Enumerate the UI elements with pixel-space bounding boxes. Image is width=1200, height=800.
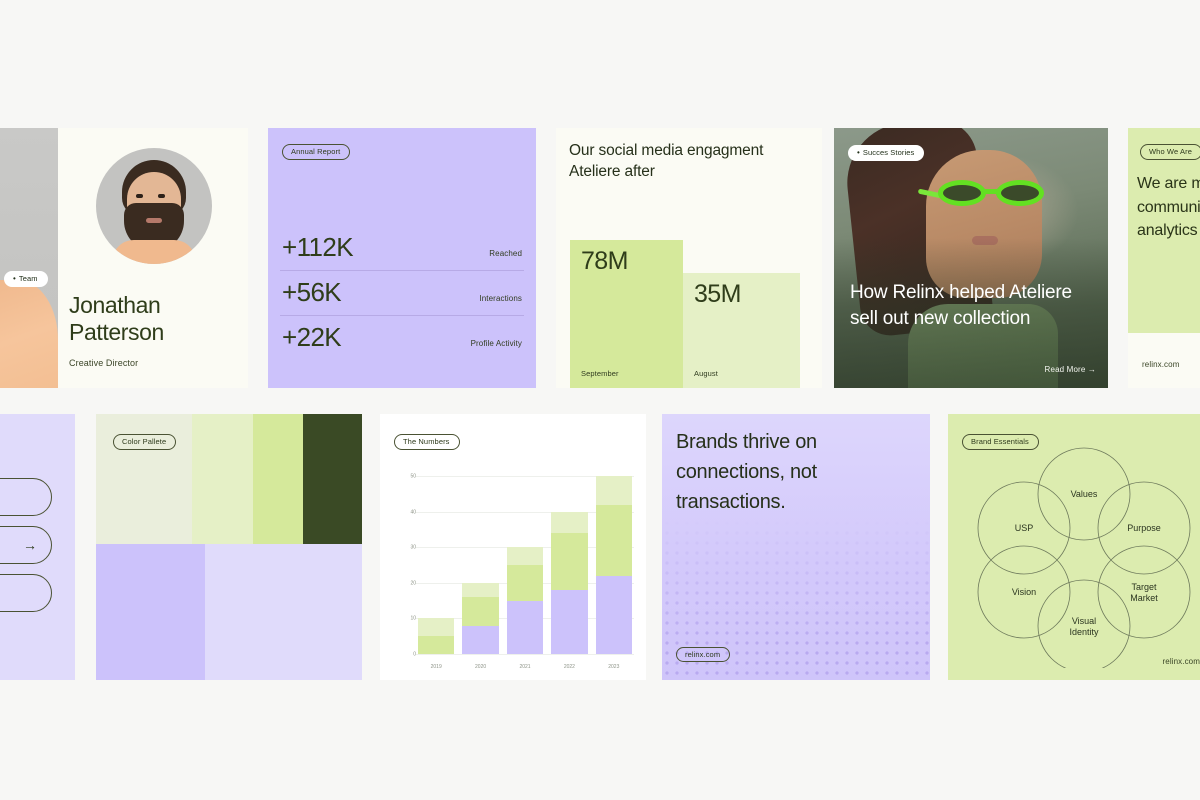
- stat-label: Interactions: [479, 294, 522, 303]
- chart-bar-column: 2022: [551, 476, 587, 654]
- who-we-are-text: We are marketers building communities wi…: [1137, 172, 1200, 243]
- success-stories-badge[interactable]: • Succes Stories: [848, 142, 924, 161]
- chart-bar-segment: [418, 636, 454, 654]
- color-palette-badge[interactable]: Color Pallete: [113, 431, 176, 450]
- bullet-icon: •: [13, 275, 16, 283]
- pill-button-top[interactable]: [0, 478, 52, 516]
- card-the-numbers-chart[interactable]: The Numbers 01020304050 2019202020212022…: [380, 414, 646, 680]
- avatar: [96, 148, 212, 264]
- template-showcase-board: • Team Jonathan Patterson Creative Direc…: [0, 0, 1200, 800]
- venn-label: USP: [1015, 523, 1034, 533]
- engagement-headline: Our social media engagment Ateliere afte…: [569, 140, 809, 183]
- chart-bars: 20192020202120222023: [418, 476, 632, 654]
- pill-button-bottom[interactable]: [0, 574, 52, 612]
- chart-bar-segment: [596, 576, 632, 654]
- bullet-icon: •: [857, 149, 860, 157]
- swatch-green-light: [192, 414, 253, 544]
- chart-y-tick-label: 50: [402, 474, 416, 480]
- swatch-lavender-light: [205, 544, 362, 680]
- team-photo-strip: [0, 128, 58, 388]
- chart-bar-stack: [418, 618, 454, 654]
- venn-circle: [1098, 546, 1190, 638]
- brand-essentials-badge[interactable]: Brand Essentials: [962, 431, 1039, 450]
- stats-list: +112K Reached +56K Interactions +22K Pro…: [280, 226, 524, 360]
- team-badge-label: Team: [19, 275, 38, 283]
- engagement-bar: 78M September: [570, 240, 683, 388]
- quote-url-badge[interactable]: relinx.com: [676, 644, 730, 663]
- chart-bar-segment: [551, 512, 587, 533]
- card-who-we-are[interactable]: Who We Are We are marketers building com…: [1128, 128, 1200, 388]
- chart-bar-segment: [596, 505, 632, 576]
- engagement-bars: 78M September 35M August: [570, 240, 810, 388]
- stat-label: Reached: [489, 249, 522, 258]
- chart-bar-stack: [462, 583, 498, 654]
- chart-bar-segment: [507, 547, 543, 565]
- who-we-are-badge[interactable]: Who We Are: [1140, 141, 1200, 160]
- color-palette-badge-label: Color Pallete: [122, 438, 166, 446]
- chart-y-tick-label: 0: [402, 652, 416, 658]
- engagement-bar-value: 35M: [694, 282, 741, 307]
- annual-report-badge-label: Annual Report: [291, 148, 340, 156]
- person-name: Jonathan Patterson: [69, 292, 244, 346]
- stat-label: Profile Activity: [471, 339, 522, 348]
- chart-y-tick-label: 20: [402, 580, 416, 586]
- card-button-styles[interactable]: →: [0, 414, 75, 680]
- quote-url-label: relinx.com: [685, 651, 720, 659]
- chart-bar-segment: [418, 618, 454, 636]
- person-role: Creative Director: [69, 358, 138, 368]
- chart-bar-segment: [462, 583, 498, 597]
- chart-x-tick-label: 2020: [462, 664, 498, 670]
- avatar-shirt: [112, 240, 196, 264]
- card-team-profile[interactable]: • Team Jonathan Patterson Creative Direc…: [0, 128, 248, 388]
- chart-x-tick-label: 2019: [418, 664, 454, 670]
- chart-y-tick-label: 30: [402, 545, 416, 551]
- chart-gridline: [416, 654, 634, 655]
- avatar-mouth: [146, 218, 162, 223]
- venn-label: Vision: [1012, 587, 1036, 597]
- chart-bar-segment: [462, 597, 498, 625]
- chart-bar-stack: [596, 476, 632, 654]
- chart-bar-segment: [462, 626, 498, 654]
- brand-essentials-url: relinx.com: [1163, 657, 1200, 666]
- quote-text: Brands thrive on connections, not transa…: [676, 427, 906, 517]
- stat-value: +56K: [282, 279, 341, 305]
- chart-bar-column: 2020: [462, 476, 498, 654]
- card-annual-report[interactable]: Annual Report +112K Reached +56K Interac…: [268, 128, 536, 388]
- stat-row: +56K Interactions: [280, 271, 524, 316]
- chart-bar-segment: [507, 565, 543, 601]
- story-title: How Relinx helped Ateliere sell out new …: [850, 280, 1094, 332]
- palette-row-bottom: [96, 544, 362, 680]
- stat-row: +112K Reached: [280, 226, 524, 271]
- avatar-eye-right: [158, 194, 165, 198]
- chart-bar-segment: [551, 590, 587, 654]
- swatch-green: [253, 414, 304, 544]
- chart-y-tick-label: 40: [402, 509, 416, 515]
- chart-bar-column: 2019: [418, 476, 454, 654]
- brand-essentials-venn: ValuesPurposeUSPVisionTargetMarketVisual…: [966, 432, 1200, 668]
- venn-label: Purpose: [1127, 523, 1161, 533]
- chart-bar-column: 2021: [507, 476, 543, 654]
- pill-button-arrow[interactable]: →: [0, 526, 52, 564]
- who-we-are-badge-label: Who We Are: [1149, 148, 1192, 156]
- engagement-bar: 35M August: [683, 273, 800, 388]
- card-brand-essentials[interactable]: ValuesPurposeUSPVisionTargetMarketVisual…: [948, 414, 1200, 680]
- success-stories-badge-label: Succes Stories: [863, 149, 914, 157]
- stat-row: +22K Profile Activity: [280, 316, 524, 360]
- sunglasses-icon: [938, 180, 1052, 206]
- card-color-palette[interactable]: Color Pallete: [96, 414, 362, 680]
- brand-essentials-badge-label: Brand Essentials: [971, 438, 1029, 446]
- swatch-green-dark: [303, 414, 362, 544]
- engagement-bar-value: 78M: [581, 249, 628, 274]
- chart-bar-column: 2023: [596, 476, 632, 654]
- avatar-eye-left: [136, 194, 143, 198]
- engagement-bar-label: August: [694, 369, 718, 378]
- chart-plot-area: 01020304050 20192020202120222023: [402, 476, 634, 654]
- chart-x-tick-label: 2022: [551, 664, 587, 670]
- card-social-engagement[interactable]: Our social media engagment Ateliere afte…: [556, 128, 822, 388]
- card-quote[interactable]: Brands thrive on connections, not transa…: [662, 414, 930, 680]
- chart-x-tick-label: 2021: [507, 664, 543, 670]
- venn-label: VisualIdentity: [1069, 616, 1099, 637]
- who-we-are-url: relinx.com: [1142, 360, 1179, 369]
- chart-bar-segment: [507, 601, 543, 654]
- chart-bar-segment: [551, 533, 587, 590]
- stat-value: +112K: [282, 234, 353, 260]
- team-badge[interactable]: • Team: [4, 268, 48, 287]
- swatch-lavender: [96, 544, 205, 680]
- venn-label: Values: [1071, 489, 1098, 499]
- stat-value: +22K: [282, 324, 341, 350]
- chart-bar-stack: [507, 547, 543, 654]
- chart-bar-segment: [596, 476, 632, 504]
- venn-label: TargetMarket: [1130, 582, 1158, 603]
- card-success-story[interactable]: • Succes Stories How Relinx helped Ateli…: [834, 128, 1108, 388]
- engagement-bar-label: September: [581, 369, 619, 378]
- chart-y-tick-label: 10: [402, 616, 416, 622]
- the-numbers-badge-label: The Numbers: [403, 438, 450, 446]
- the-numbers-badge[interactable]: The Numbers: [394, 431, 460, 450]
- annual-report-badge[interactable]: Annual Report: [282, 141, 350, 160]
- chart-bar-stack: [551, 512, 587, 654]
- chart-x-tick-label: 2023: [596, 664, 632, 670]
- read-more-link[interactable]: Read More →: [1045, 365, 1096, 374]
- arrow-right-icon: →: [23, 538, 37, 552]
